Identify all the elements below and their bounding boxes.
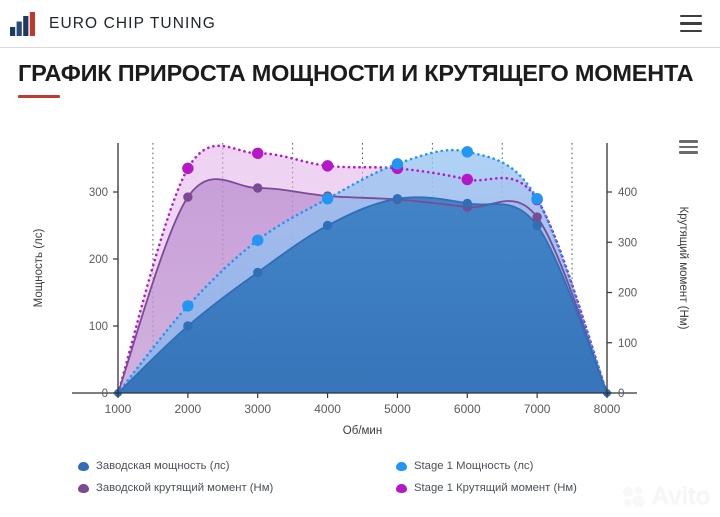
page-root: EURO CHIP TUNING ГРАФИК ПРИРОСТА МОЩНОСТ…: [0, 0, 720, 517]
page-title: ГРАФИК ПРИРОСТА МОЩНОСТИ И КРУТЯЩЕГО МОМ…: [0, 48, 720, 86]
svg-text:200: 200: [618, 288, 637, 300]
legend-label: Заводская мощность (лс): [96, 460, 229, 472]
svg-text:2000: 2000: [175, 402, 202, 416]
hamburger-menu-icon[interactable]: [680, 15, 702, 32]
legend-item-stock-power[interactable]: Заводская мощность (лс): [78, 455, 396, 477]
hamburger-bar: [680, 15, 702, 17]
legend-label: Stage 1 Крутящий момент (Нм): [414, 482, 577, 494]
stock-torque-marker-icon: [78, 484, 89, 493]
svg-text:0: 0: [102, 388, 108, 400]
brand-logo[interactable]: EURO CHIP TUNING: [10, 12, 216, 36]
svg-text:4000: 4000: [314, 402, 341, 416]
svg-text:300: 300: [618, 237, 637, 249]
svg-text:100: 100: [89, 321, 108, 333]
site-header: EURO CHIP TUNING: [0, 0, 720, 48]
svg-text:7000: 7000: [524, 402, 551, 416]
svg-text:400: 400: [618, 187, 637, 199]
svg-text:3000: 3000: [244, 402, 271, 416]
chart-legend: Заводская мощность (лс) Stage 1 Мощность…: [0, 455, 720, 503]
svg-text:Мощность (лс): Мощность (лс): [33, 229, 45, 308]
legend-item-stage1-torque[interactable]: Stage 1 Крутящий момент (Нм): [396, 477, 720, 499]
svg-text:5000: 5000: [384, 402, 411, 416]
hamburger-bar: [680, 22, 702, 24]
title-underline-rule: [18, 95, 60, 98]
legend-label: Stage 1 Мощность (лс): [414, 460, 533, 472]
svg-text:300: 300: [89, 187, 108, 199]
svg-text:6000: 6000: [454, 402, 481, 416]
svg-text:0: 0: [618, 388, 624, 400]
svg-text:1000: 1000: [105, 402, 132, 416]
stage1-power-marker-icon: [396, 462, 407, 471]
hamburger-bar: [680, 30, 702, 32]
svg-text:100: 100: [618, 338, 637, 350]
bar-chart-logo-icon: [10, 12, 40, 36]
svg-text:Об/мин: Об/мин: [343, 425, 382, 437]
stage1-torque-marker-icon: [396, 484, 407, 493]
chart-area-fills: [118, 146, 607, 393]
svg-text:8000: 8000: [594, 402, 621, 416]
legend-item-stock-torque[interactable]: Заводской крутящий момент (Нм): [78, 477, 396, 499]
dyno-chart: 0100200300010020030040010002000300040005…: [0, 118, 720, 470]
svg-text:200: 200: [89, 254, 108, 266]
svg-text:Крутящий момент (Нм): Крутящий момент (Нм): [677, 206, 689, 329]
brand-name: EURO CHIP TUNING: [49, 15, 216, 33]
stock-power-marker-icon: [78, 462, 89, 471]
page-heading-block: ГРАФИК ПРИРОСТА МОЩНОСТИ И КРУТЯЩЕГО МОМ…: [0, 48, 720, 98]
chart-plot-area: 0100200300010020030040010002000300040005…: [0, 118, 720, 470]
legend-label: Заводской крутящий момент (Нм): [96, 482, 273, 494]
legend-item-stage1-power[interactable]: Stage 1 Мощность (лс): [396, 455, 720, 477]
